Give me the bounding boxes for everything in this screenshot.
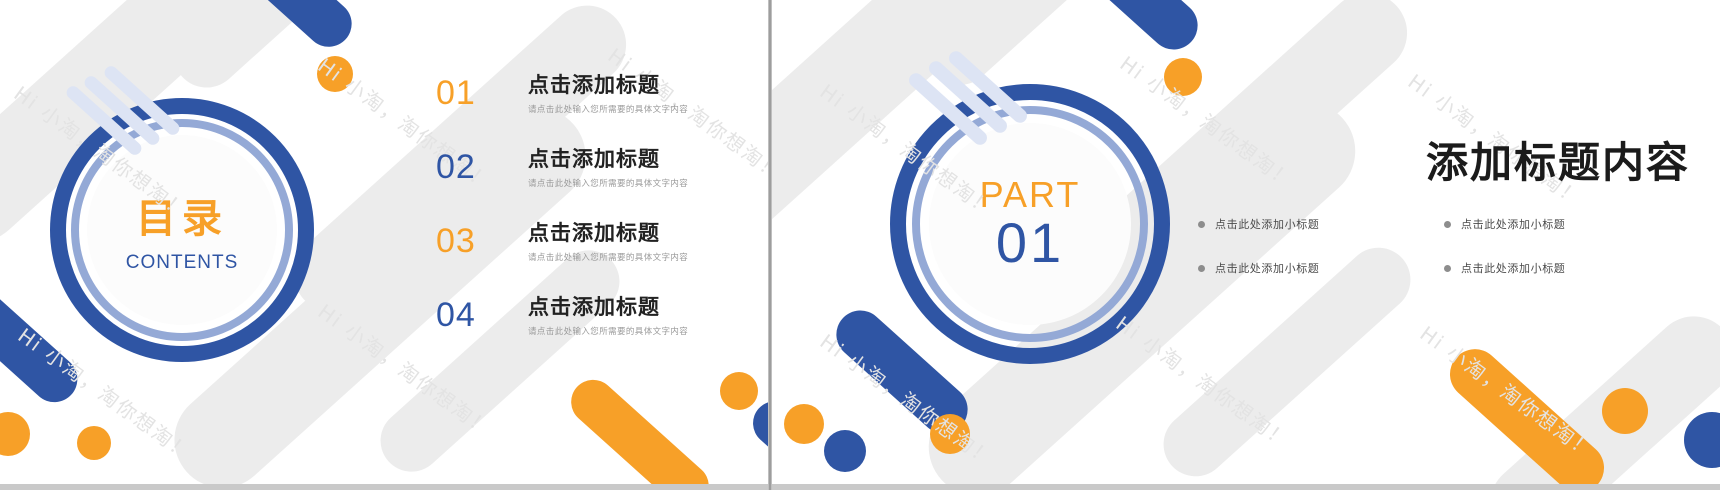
part-word-label: PART xyxy=(980,177,1081,213)
list-item-title: 点击添加标题 xyxy=(528,220,738,246)
list-item-label: 点击此处添加小标题 xyxy=(1461,216,1565,232)
list-item-body: 点击添加标题 请点击此处输入您所需要的具体文字内容 xyxy=(528,72,738,115)
deco-gray-band-2 xyxy=(160,0,390,101)
deco-orange-dot-bottomleft-b xyxy=(930,414,970,454)
deco-blue-dot-bottomright xyxy=(1684,412,1720,468)
list-item-body: 点击添加标题 请点击此处输入您所需要的具体文字内容 xyxy=(528,146,738,189)
list-item-description: 请点击此处输入您所需要的具体文字内容 xyxy=(528,325,738,337)
contents-en-subtitle: CONTENTS xyxy=(126,252,239,274)
slide-divider xyxy=(768,0,772,490)
contents-list: 01 点击添加标题 请点击此处输入您所需要的具体文字内容 02 点击添加标题 请… xyxy=(436,72,736,368)
bullet-dot-icon xyxy=(1444,221,1451,228)
page-title: 添加标题内容 xyxy=(1190,140,1690,186)
bullet-dot-icon xyxy=(1198,221,1205,228)
right-content-block: 添加标题内容 点击此处添加小标题 点击此处添加小标题 点击此处添加小标题 点击此… xyxy=(1190,140,1690,304)
deco-orange-dot-bottomleft-a xyxy=(784,404,824,444)
ring-core-white: 目录 CONTENTS xyxy=(87,135,277,325)
contents-cn-title: 目录 xyxy=(136,186,228,244)
list-item[interactable]: 点击此处添加小标题 xyxy=(1444,260,1690,276)
slide-right[interactable]: Hi 小淘，淘你想淘！ Hi 小淘，淘你想淘！ Hi 小淘，淘你想淘！ Hi 小… xyxy=(772,0,1720,490)
deco-orange-dot-bottomright xyxy=(720,372,758,410)
list-item-number: 03 xyxy=(436,224,498,258)
bottom-edge-strip xyxy=(0,484,1720,490)
list-item[interactable]: 点击此处添加小标题 xyxy=(1198,216,1444,232)
deco-gray-band-6 xyxy=(1474,300,1720,490)
list-item-label: 点击此处添加小标题 xyxy=(1461,260,1565,276)
list-item-number: 02 xyxy=(436,150,498,184)
deco-blue-capsule-top xyxy=(219,0,361,56)
deco-blue-capsule-bottomright xyxy=(744,392,768,490)
list-item-title: 点击添加标题 xyxy=(528,294,738,320)
list-item[interactable]: 01 点击添加标题 请点击此处输入您所需要的具体文字内容 xyxy=(436,72,736,146)
deco-orange-capsule-bottomright xyxy=(562,371,718,490)
ring-core-white: PART 01 xyxy=(929,123,1131,325)
part-ring-logo: PART 01 xyxy=(890,84,1170,364)
list-item-description: 请点击此处输入您所需要的具体文字内容 xyxy=(528,103,738,115)
contents-ring-logo: 目录 CONTENTS xyxy=(50,98,314,362)
bullet-list: 点击此处添加小标题 点击此处添加小标题 点击此处添加小标题 点击此处添加小标题 xyxy=(1190,216,1690,304)
list-item[interactable]: 点击此处添加小标题 xyxy=(1198,260,1444,276)
deco-orange-dot-bottom xyxy=(77,426,111,460)
list-item-title: 点击添加标题 xyxy=(528,146,738,172)
list-item-label: 点击此处添加小标题 xyxy=(1215,260,1319,276)
list-item-title: 点击添加标题 xyxy=(528,72,738,98)
list-item-label: 点击此处添加小标题 xyxy=(1215,216,1319,232)
watermark-text: Hi 小淘，淘你想淘！ xyxy=(1415,318,1601,464)
list-item-description: 请点击此处输入您所需要的具体文字内容 xyxy=(528,177,738,189)
deco-blue-capsule-top xyxy=(1056,0,1207,59)
list-item[interactable]: 点击此处添加小标题 xyxy=(1444,216,1690,232)
list-item-number: 01 xyxy=(436,76,498,110)
bullet-dot-icon xyxy=(1444,265,1451,272)
list-item-number: 04 xyxy=(436,298,498,332)
deco-orange-dot-top xyxy=(317,56,353,92)
list-item[interactable]: 04 点击添加标题 请点击此处输入您所需要的具体文字内容 xyxy=(436,294,736,368)
slide-preview-stage: Hi 小淘，淘你想淘！ Hi 小淘，淘你想淘！ Hi 小淘，淘你想淘！ Hi 小… xyxy=(0,0,1720,490)
deco-blue-dot-bottomleft xyxy=(824,430,866,472)
list-item-body: 点击添加标题 请点击此处输入您所需要的具体文字内容 xyxy=(528,220,738,263)
deco-orange-capsule-bottomright xyxy=(1440,339,1615,490)
list-item-description: 请点击此处输入您所需要的具体文字内容 xyxy=(528,251,738,263)
list-item-body: 点击添加标题 请点击此处输入您所需要的具体文字内容 xyxy=(528,294,738,337)
slide-left[interactable]: Hi 小淘，淘你想淘！ Hi 小淘，淘你想淘！ Hi 小淘，淘你想淘！ Hi 小… xyxy=(0,0,768,490)
list-item[interactable]: 02 点击添加标题 请点击此处输入您所需要的具体文字内容 xyxy=(436,146,736,220)
part-number-label: 01 xyxy=(996,215,1064,271)
deco-orange-dot-bottomleft xyxy=(0,412,30,456)
bullet-dot-icon xyxy=(1198,265,1205,272)
deco-orange-dot-bottomright xyxy=(1602,388,1648,434)
slide-divider-line xyxy=(769,0,771,490)
list-item[interactable]: 03 点击添加标题 请点击此处输入您所需要的具体文字内容 xyxy=(436,220,736,294)
